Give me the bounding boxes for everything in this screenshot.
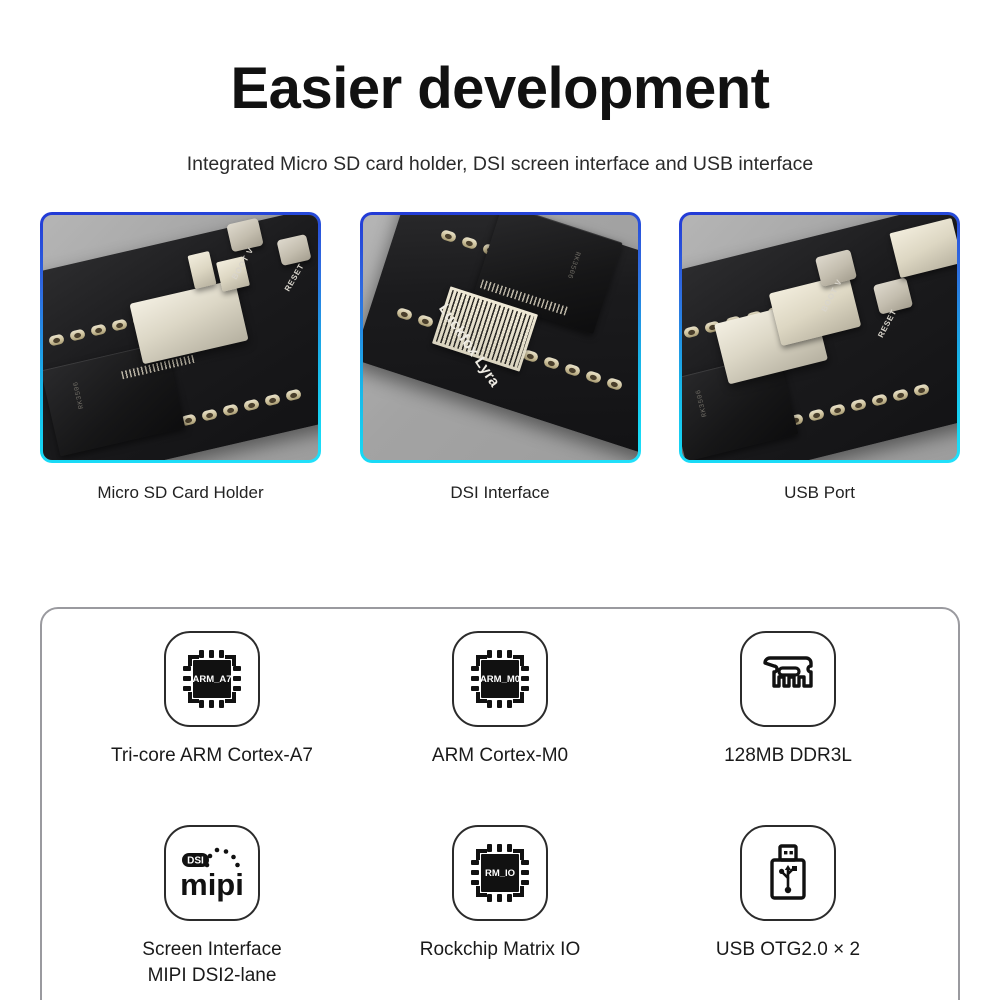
spec-item-cortex-a7[interactable]: ARM_A7 Tri-core ARM Cortex-A7	[68, 631, 356, 825]
photo-panel-micro-sd[interactable]: RK3506 BOOT V RESET Micro SD Card Holder	[40, 212, 321, 503]
chip-icon-label: RM_IO	[485, 868, 515, 879]
photo-panel-row: RK3506 BOOT V RESET Micro SD Card Holder	[0, 212, 1000, 503]
board-photo-usb: RK3506 BOOT V RESET	[682, 215, 957, 460]
chip-icon-label: ARM_A7	[192, 674, 231, 685]
spec-label: USB OTG2.0 × 2	[716, 937, 860, 963]
board-photo-micro-sd: RK3506 BOOT V RESET	[43, 215, 318, 460]
mipi-logo-text: mipi	[180, 867, 244, 902]
spec-item-ddr3l[interactable]: 128MB DDR3L	[644, 631, 932, 825]
photo-panel-dsi[interactable]: RK3506 Luckfox Lyra DSI Interface	[360, 212, 641, 503]
spec-icon-tile	[740, 631, 836, 727]
mipi-dsi-icon: DSI mipi	[174, 839, 250, 907]
spec-label: Rockchip Matrix IO	[420, 937, 580, 963]
spec-icon-tile: RM_IO	[452, 825, 548, 921]
spec-icon-tile: ARM_A7	[164, 631, 260, 727]
specifications-card: ARM_A7 Tri-core ARM Cortex-A7	[40, 607, 960, 1000]
spec-icon-tile: DSI mipi	[164, 825, 260, 921]
chip-icon: ARM_A7	[177, 644, 247, 714]
spec-label: Tri-core ARM Cortex-A7	[111, 743, 313, 769]
photo-panel-usb[interactable]: RK3506 BOOT V RESET USB Port	[679, 212, 960, 503]
product-feature-page: Easier development Integrated Micro SD c…	[0, 56, 1000, 1000]
panel-caption: DSI Interface	[360, 483, 641, 503]
spec-item-usb-otg[interactable]: USB OTG2.0 × 2	[644, 825, 932, 1000]
photo-frame: RK3506 Luckfox Lyra	[360, 212, 641, 463]
page-subtitle: Integrated Micro SD card holder, DSI scr…	[0, 153, 1000, 176]
chip-icon-label: ARM_M0	[480, 674, 520, 685]
page-title: Easier development	[0, 56, 1000, 123]
chip-icon: ARM_M0	[465, 644, 535, 714]
panel-caption: Micro SD Card Holder	[40, 483, 321, 503]
spec-item-matrix-io[interactable]: RM_IO Rockchip Matrix IO	[356, 825, 644, 1000]
photo-frame: RK3506 BOOT V RESET	[40, 212, 321, 463]
spec-item-mipi-dsi[interactable]: DSI mipi Screen Interface MIPI DSI2-lane	[68, 825, 356, 1000]
board-photo-dsi: RK3506 Luckfox Lyra	[363, 215, 638, 460]
spec-label: ARM Cortex-M0	[432, 743, 568, 769]
chip-icon: RM_IO	[465, 838, 535, 908]
spec-label: 128MB DDR3L	[724, 743, 852, 769]
specifications-grid: ARM_A7 Tri-core ARM Cortex-A7	[42, 609, 958, 1000]
spec-icon-tile	[740, 825, 836, 921]
photo-frame: RK3506 BOOT V RESET	[679, 212, 960, 463]
spec-icon-tile: ARM_M0	[452, 631, 548, 727]
usb-icon	[753, 838, 823, 908]
spec-item-cortex-m0[interactable]: ARM_M0 ARM Cortex-M0	[356, 631, 644, 825]
memory-icon	[753, 644, 823, 714]
spec-label: Screen Interface MIPI DSI2-lane	[142, 937, 281, 988]
dsi-badge-label: DSI	[187, 856, 204, 867]
panel-caption: USB Port	[679, 483, 960, 503]
